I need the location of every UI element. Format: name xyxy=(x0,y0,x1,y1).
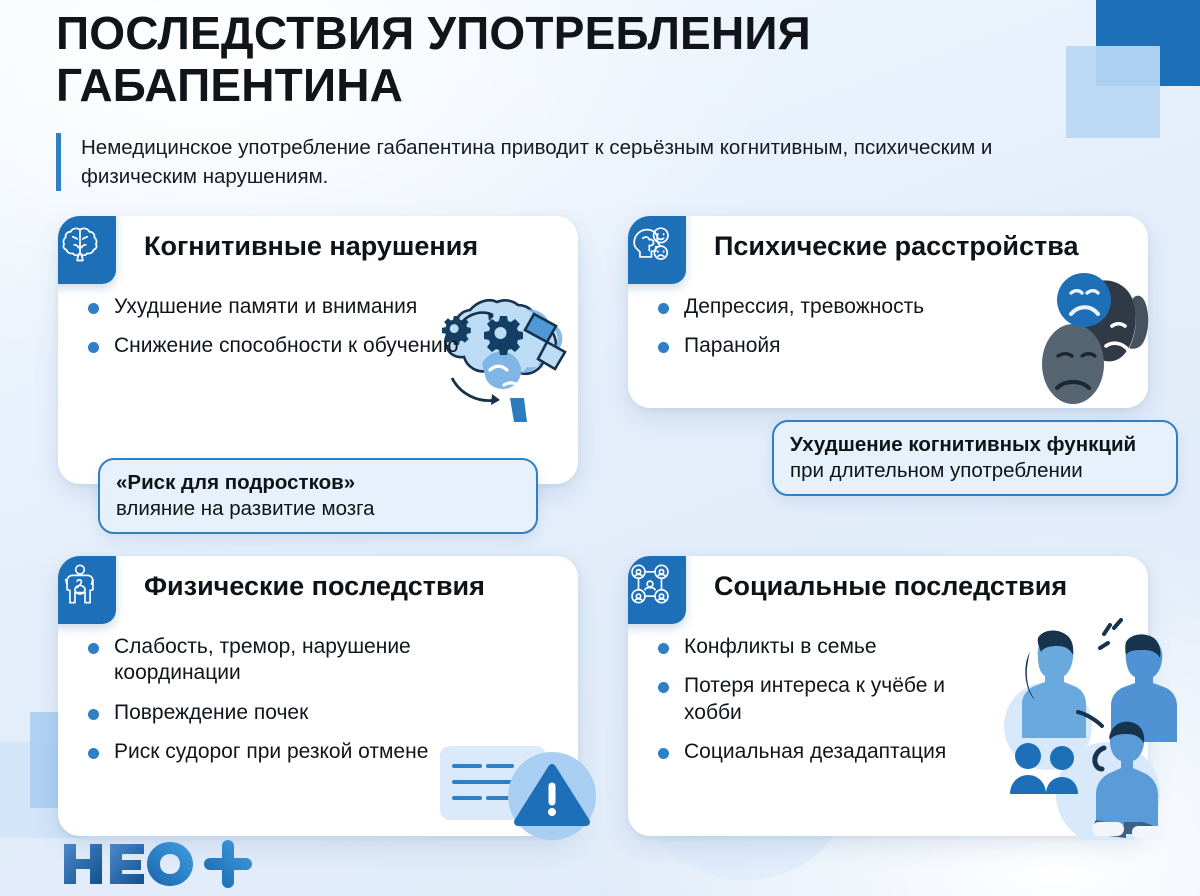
card-physical[interactable]: Физические последствия Слабость, тремор,… xyxy=(58,556,578,836)
list-item: Конфликты в семье xyxy=(658,634,1004,660)
cards-grid: Когнитивные нарушения Ухудшение памяти и… xyxy=(0,0,1200,896)
card-social-bullets: Конфликты в семье Потеря интереса к учёб… xyxy=(628,630,1148,766)
card-physical-header: Физические последствия xyxy=(58,556,578,630)
card-cognitive[interactable]: Когнитивные нарушения Ухудшение памяти и… xyxy=(58,216,578,484)
brand-logo[interactable] xyxy=(58,838,298,890)
list-item: Депрессия, тревожность xyxy=(658,294,1104,320)
list-item: Паранойя xyxy=(658,333,1104,359)
callout-long-term[interactable]: Ухудшение когнитивных функций при длител… xyxy=(772,420,1178,496)
people-network-icon xyxy=(628,556,686,624)
list-item: Слабость, тремор, нарушение координации xyxy=(88,634,514,687)
card-social[interactable]: Социальные последствия Конфликты в семье… xyxy=(628,556,1148,836)
callout-teen-risk-text: «Риск для подростков»влияние на развитие… xyxy=(116,470,520,522)
card-physical-title: Физические последствия xyxy=(144,572,566,602)
card-psychiatric-bullets: Депрессия, тревожность Паранойя xyxy=(628,290,1148,360)
list-item: Ухудшение памяти и внимания xyxy=(88,294,514,320)
callout-long-term-rest: при длительном употреблении xyxy=(790,459,1083,482)
card-physical-bullets: Слабость, тремор, нарушение координации … xyxy=(58,630,578,766)
list-item: Снижение способности к обучению xyxy=(88,333,514,359)
callout-teen-risk-strong: «Риск для подростков» xyxy=(116,471,355,494)
card-psychiatric-title: Психические расстройства xyxy=(714,232,1136,262)
callout-teen-risk[interactable]: «Риск для подростков»влияние на развитие… xyxy=(98,458,538,534)
callout-long-term-strong: Ухудшение когнитивных функций xyxy=(790,433,1136,456)
callout-long-term-text: Ухудшение когнитивных функций при длител… xyxy=(790,432,1160,484)
body-organs-icon xyxy=(58,556,116,624)
list-item: Повреждение почек xyxy=(88,700,514,726)
card-social-title: Социальные последствия xyxy=(714,572,1136,602)
list-item: Социальная дезадаптация xyxy=(658,739,1004,765)
list-item: Потеря интереса к учёбе и хобби xyxy=(658,673,1004,726)
list-item: Риск судорог при резкой отмене xyxy=(88,739,514,765)
head-emotions-icon xyxy=(628,216,686,284)
card-cognitive-header: Когнитивные нарушения xyxy=(58,216,578,290)
infographic-canvas: ПОСЛЕДСТВИЯ УПОТРЕБЛЕНИЯ ГАБАПЕНТИНА Нем… xyxy=(0,0,1200,896)
callout-teen-risk-rest: влияние на развитие мозга xyxy=(116,497,375,520)
card-cognitive-bullets: Ухудшение памяти и внимания Снижение спо… xyxy=(58,290,578,360)
card-cognitive-title: Когнитивные нарушения xyxy=(144,232,566,262)
brain-icon xyxy=(58,216,116,284)
card-psychiatric-header: Психические расстройства xyxy=(628,216,1148,290)
card-psychiatric[interactable]: Психические расстройства Депрессия, трев… xyxy=(628,216,1148,408)
card-social-header: Социальные последствия xyxy=(628,556,1148,630)
